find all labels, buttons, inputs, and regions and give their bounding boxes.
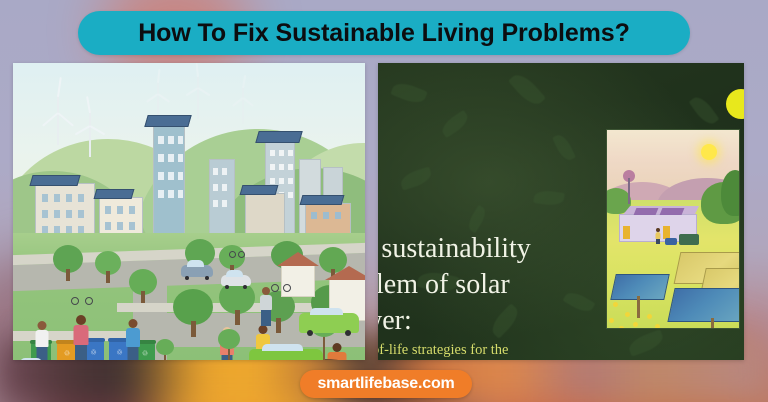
person — [259, 287, 272, 327]
tractor — [665, 238, 677, 245]
eco-city-illustration: ♲ ♲ ♲ ♲ ♲ — [13, 63, 365, 360]
recycle-icon: ♲ — [64, 351, 70, 358]
bicycle — [229, 249, 245, 258]
wind-turbine-icon — [145, 71, 171, 121]
wind-turbine-icon — [185, 65, 211, 119]
car — [221, 275, 251, 286]
slide-subtitle: of-life strategies for the id sector — [378, 340, 692, 360]
flower — [655, 324, 660, 329]
solar-panel — [255, 131, 302, 143]
recycle-icon: ♲ — [142, 351, 148, 358]
wind-turbine-icon — [75, 99, 105, 155]
recycle-icon: ♲ — [90, 350, 96, 357]
tractor — [679, 234, 699, 245]
flower — [647, 314, 652, 319]
electric-car — [299, 313, 359, 333]
windmill-icon — [621, 170, 637, 204]
barn-solar-panel — [634, 208, 659, 215]
solar-panel — [94, 189, 135, 199]
recycle-icon: ♲ — [116, 350, 122, 357]
farm-grove — [721, 170, 740, 216]
solar-panel — [300, 195, 345, 205]
bicycle — [71, 293, 93, 305]
tree — [95, 251, 121, 283]
car — [181, 265, 213, 277]
site-url-label: smartlifebase.com — [317, 375, 454, 393]
title-banner: How To Fix Sustainable Living Problems? — [78, 11, 690, 55]
building — [209, 159, 235, 243]
tree — [53, 245, 83, 281]
footer-banner: smartlifebase.com — [300, 370, 472, 398]
person — [73, 315, 89, 360]
page-title: How To Fix Sustainable Living Problems? — [138, 19, 630, 48]
solar-panel — [667, 288, 740, 322]
solar-panel — [240, 185, 279, 195]
farm-worker — [655, 228, 661, 244]
person — [125, 319, 140, 360]
bicycle — [271, 281, 291, 292]
right-image-panel: e sustainability blem of solar wer: of-l… — [378, 63, 744, 360]
electric-car — [249, 349, 323, 360]
building — [153, 125, 185, 243]
barn-door — [623, 226, 630, 239]
flower — [619, 326, 624, 329]
solar-farm-inset-image — [606, 129, 740, 329]
solar-post — [637, 296, 640, 318]
solar-panel — [29, 175, 80, 186]
barn-solar-panel — [660, 208, 685, 215]
left-image-panel: ♲ ♲ ♲ ♲ ♲ — [13, 63, 365, 360]
sun-icon — [701, 144, 717, 160]
solar-post — [711, 318, 714, 329]
flower — [633, 322, 638, 327]
wind-turbine-icon — [41, 81, 75, 143]
tree — [173, 289, 213, 337]
flower — [613, 302, 618, 307]
flower — [609, 318, 614, 323]
tree — [129, 269, 157, 303]
person — [35, 321, 49, 360]
sapling — [217, 329, 241, 360]
sapling — [155, 339, 175, 360]
solar-panel — [610, 274, 670, 300]
flower — [625, 312, 630, 317]
wind-turbine-icon — [231, 77, 255, 123]
solar-panel — [144, 115, 191, 127]
